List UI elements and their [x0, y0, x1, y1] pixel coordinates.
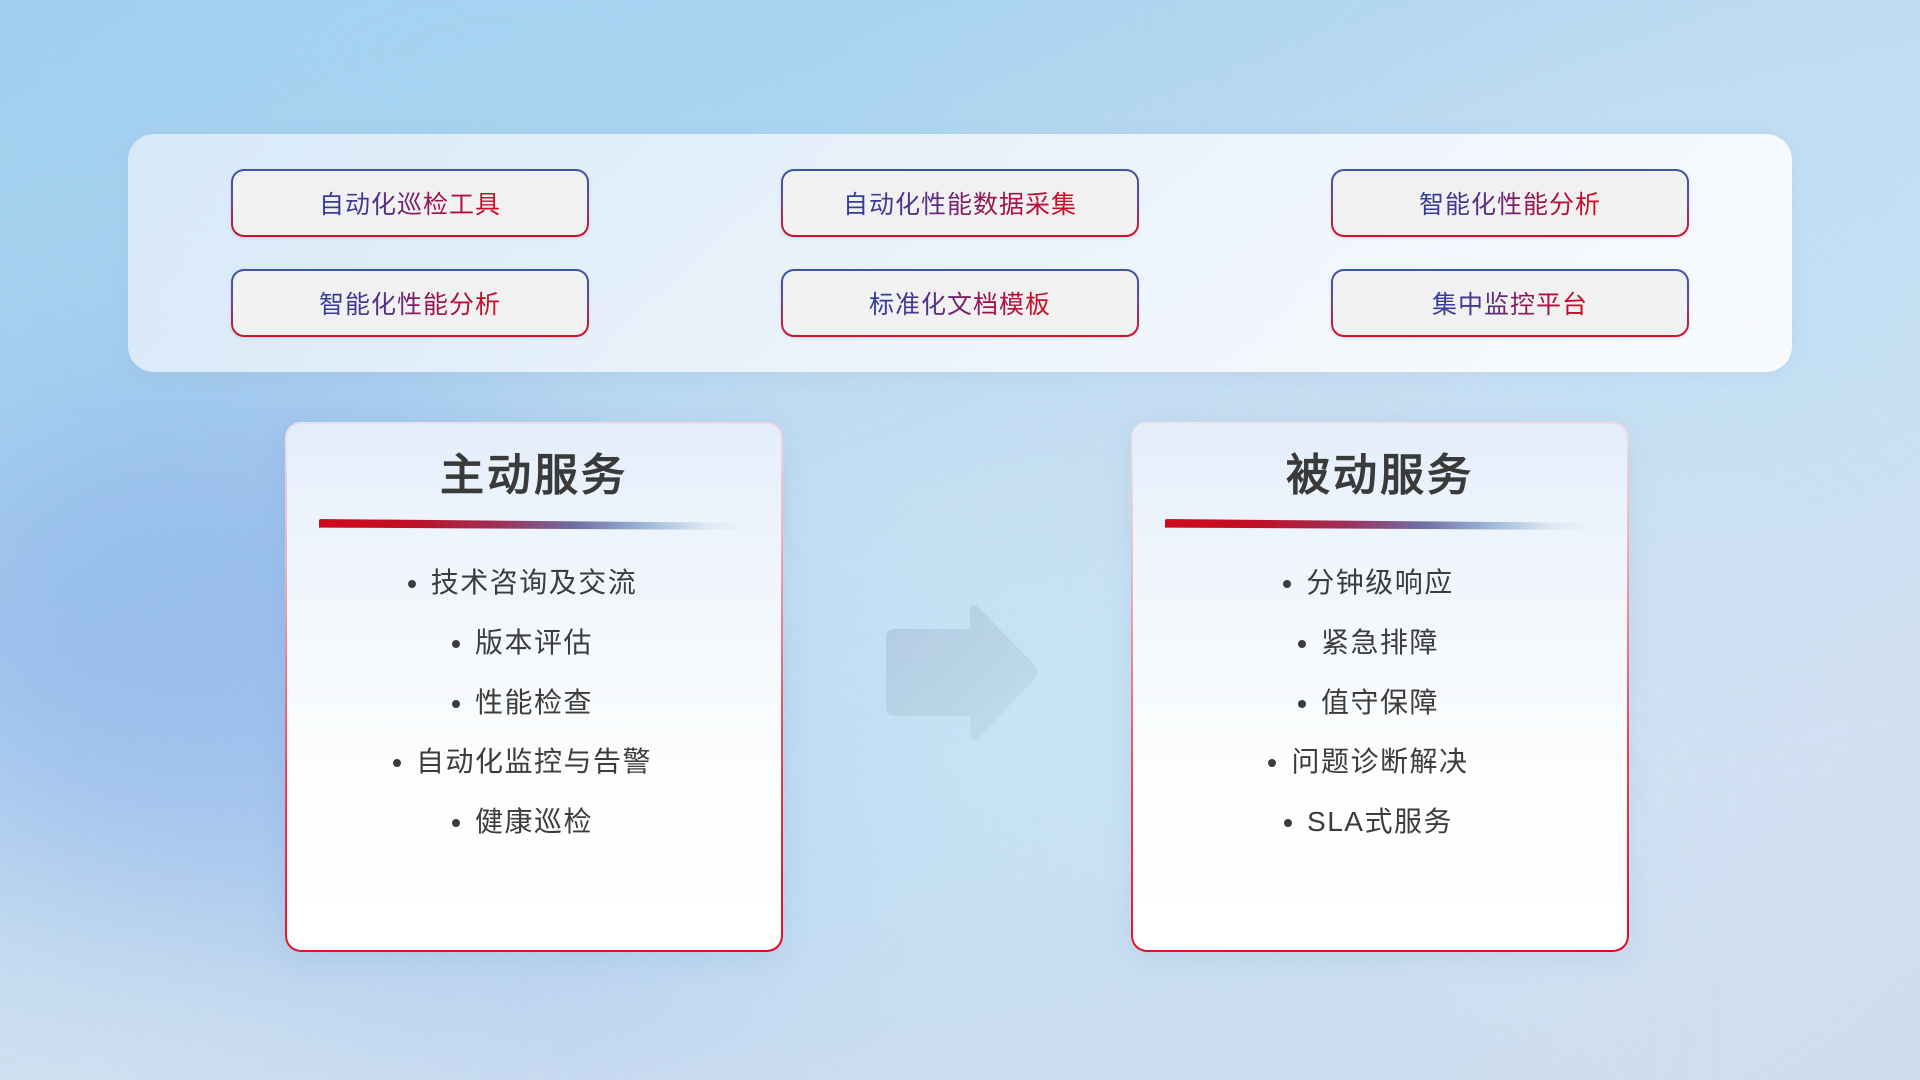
title-divider — [319, 519, 749, 530]
service-card-title: 被动服务 — [1286, 448, 1474, 503]
service-list-item: 分钟级响应 — [1306, 564, 1454, 602]
title-divider-bar — [319, 519, 749, 530]
service-card-inner: 被动服务 分钟级响应 紧急排障 值守保障 问题诊断解决 SLA式服务 — [1133, 424, 1627, 950]
service-list-item: 值守保障 — [1321, 684, 1439, 722]
tool-pill-inner: 标准化文档模板 — [783, 271, 1137, 335]
tool-pill-intelligent-performance-analysis-bottom[interactable]: 智能化性能分析 — [231, 269, 589, 337]
tool-pill-label: 标准化文档模板 — [869, 285, 1051, 321]
right-arrow-icon — [878, 598, 1042, 748]
tool-pill-inner: 智能化性能分析 — [1333, 171, 1687, 235]
tool-pill-label: 自动化性能数据采集 — [843, 185, 1077, 221]
tool-pill-label: 集中监控平台 — [1432, 285, 1588, 321]
tool-pill-inner: 集中监控平台 — [1333, 271, 1687, 335]
service-list-item: 健康巡检 — [475, 803, 593, 841]
service-list-item: 技术咨询及交流 — [431, 564, 638, 602]
tool-pill-label: 自动化巡检工具 — [319, 185, 501, 221]
service-item-list: 分钟级响应 紧急排障 值守保障 问题诊断解决 SLA式服务 — [1133, 564, 1627, 841]
service-list-item: 紧急排障 — [1321, 624, 1439, 662]
service-card-proactive: 主动服务 技术咨询及交流 版本评估 性能检查 自动化监控与告警 健康巡检 — [285, 422, 783, 952]
service-card-inner: 主动服务 技术咨询及交流 版本评估 性能检查 自动化监控与告警 健康巡检 — [287, 424, 781, 950]
tool-pill-intelligent-performance-analysis-top[interactable]: 智能化性能分析 — [1331, 169, 1689, 237]
service-list-item: 版本评估 — [475, 624, 593, 662]
tool-pill-inner: 自动化性能数据采集 — [783, 171, 1137, 235]
tool-pill-centralized-monitoring-platform[interactable]: 集中监控平台 — [1331, 269, 1689, 337]
tool-pill-label: 智能化性能分析 — [319, 285, 501, 321]
title-divider — [1165, 519, 1595, 530]
service-list-item: 问题诊断解决 — [1291, 743, 1468, 781]
title-divider-bar — [1165, 519, 1595, 530]
service-list-item: 自动化监控与告警 — [416, 743, 652, 781]
service-card-reactive: 被动服务 分钟级响应 紧急排障 值守保障 问题诊断解决 SLA式服务 — [1131, 422, 1629, 952]
tool-pill-automated-inspection-tool[interactable]: 自动化巡检工具 — [231, 169, 589, 237]
service-card-title: 主动服务 — [440, 448, 628, 503]
tool-pill-label: 智能化性能分析 — [1419, 185, 1601, 221]
tool-pill-standard-document-template[interactable]: 标准化文档模板 — [781, 269, 1139, 337]
tool-pill-inner: 自动化巡检工具 — [233, 171, 587, 235]
tools-grid: 自动化巡检工具 自动化性能数据采集 智能化性能分析 智能化性能分析 标准化文档模… — [231, 169, 1689, 337]
tool-pill-automated-performance-collection[interactable]: 自动化性能数据采集 — [781, 169, 1139, 237]
tools-panel: 自动化巡检工具 自动化性能数据采集 智能化性能分析 智能化性能分析 标准化文档模… — [128, 134, 1792, 372]
service-item-list: 技术咨询及交流 版本评估 性能检查 自动化监控与告警 健康巡检 — [287, 564, 781, 841]
tool-pill-inner: 智能化性能分析 — [233, 271, 587, 335]
service-list-item: SLA式服务 — [1307, 803, 1453, 841]
service-list-item: 性能检查 — [475, 684, 593, 722]
